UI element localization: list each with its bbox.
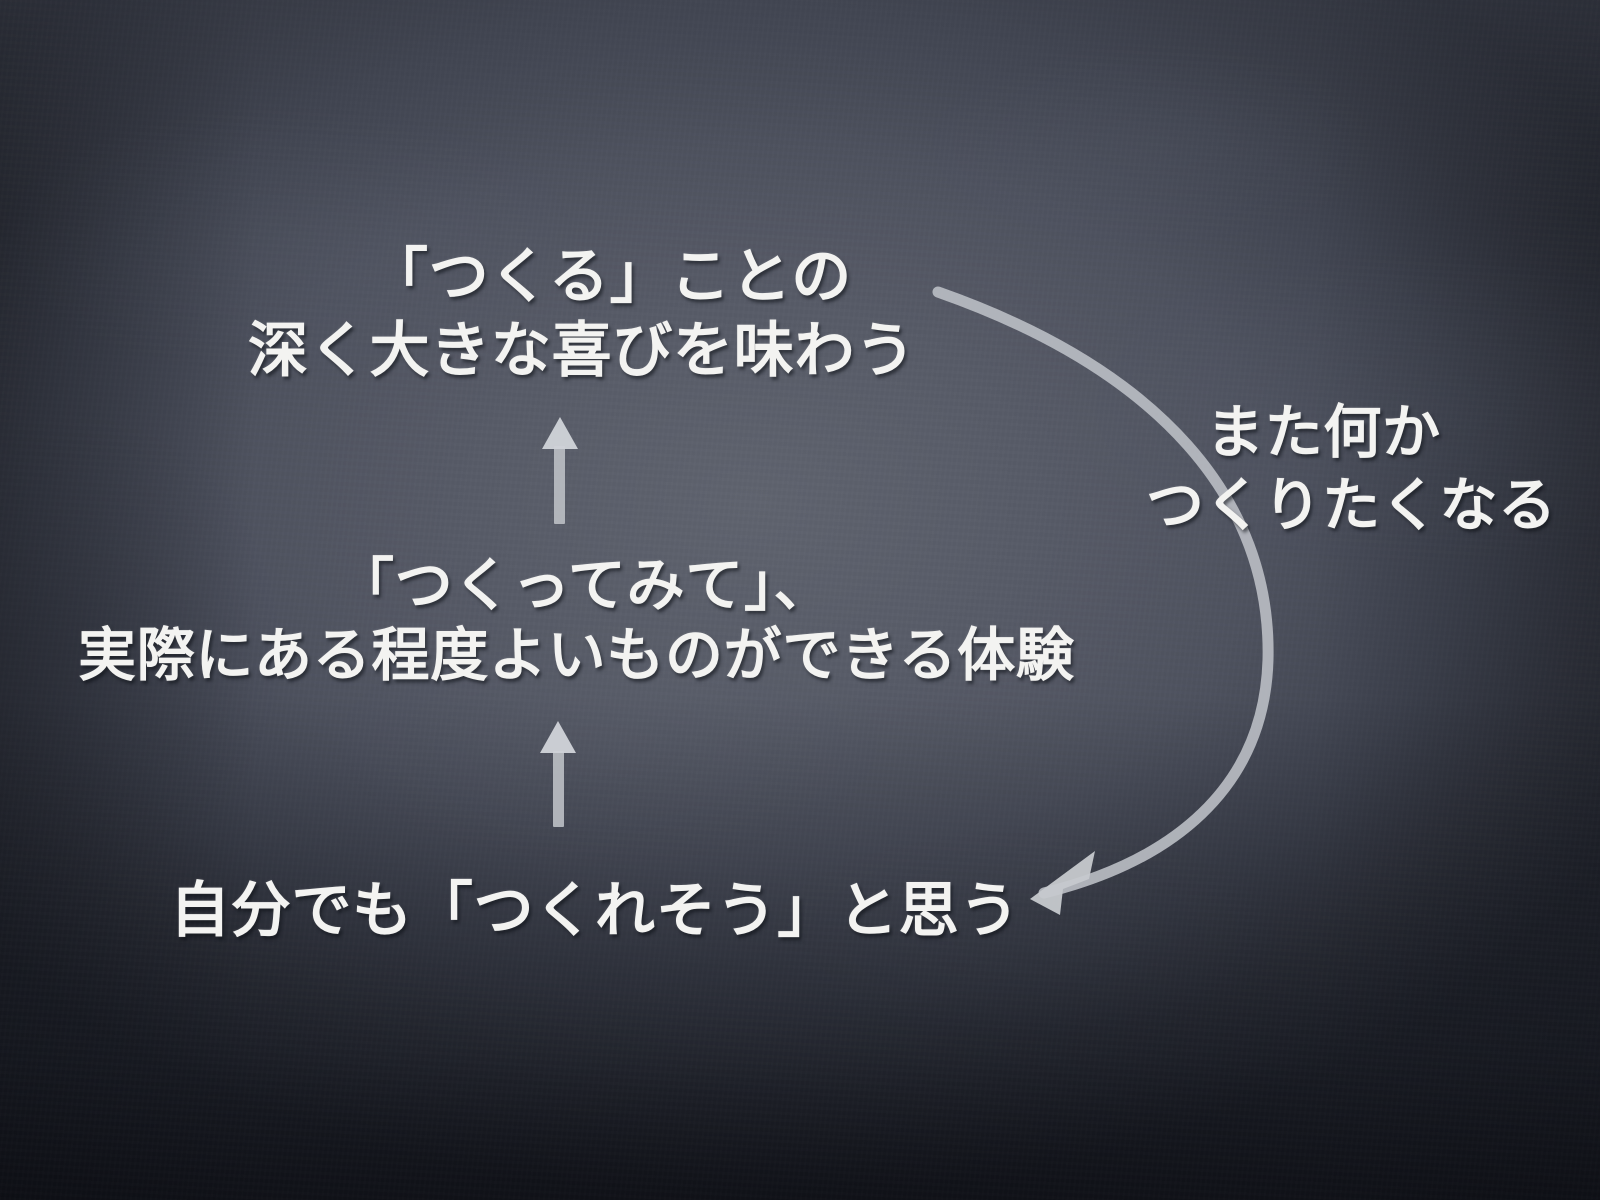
want-to-make-again-line-2: つくりたくなる: [1146, 458, 1557, 542]
try-making-experience-line-2: 実際にある程度よいものができる体験: [78, 608, 1075, 692]
want-to-make-again-line-1: また何か: [1206, 385, 1441, 469]
think-i-can-make-it-line-1: 自分でも「つくれそう」と思う: [170, 862, 1020, 949]
joy-of-making-line-2: 深く大きな喜びを味わう: [248, 302, 916, 389]
slide-canvas: 「つくる」ことの 深く大きな喜びを味わう 「つくってみて」、 実際にある程度よい…: [0, 0, 1600, 1200]
